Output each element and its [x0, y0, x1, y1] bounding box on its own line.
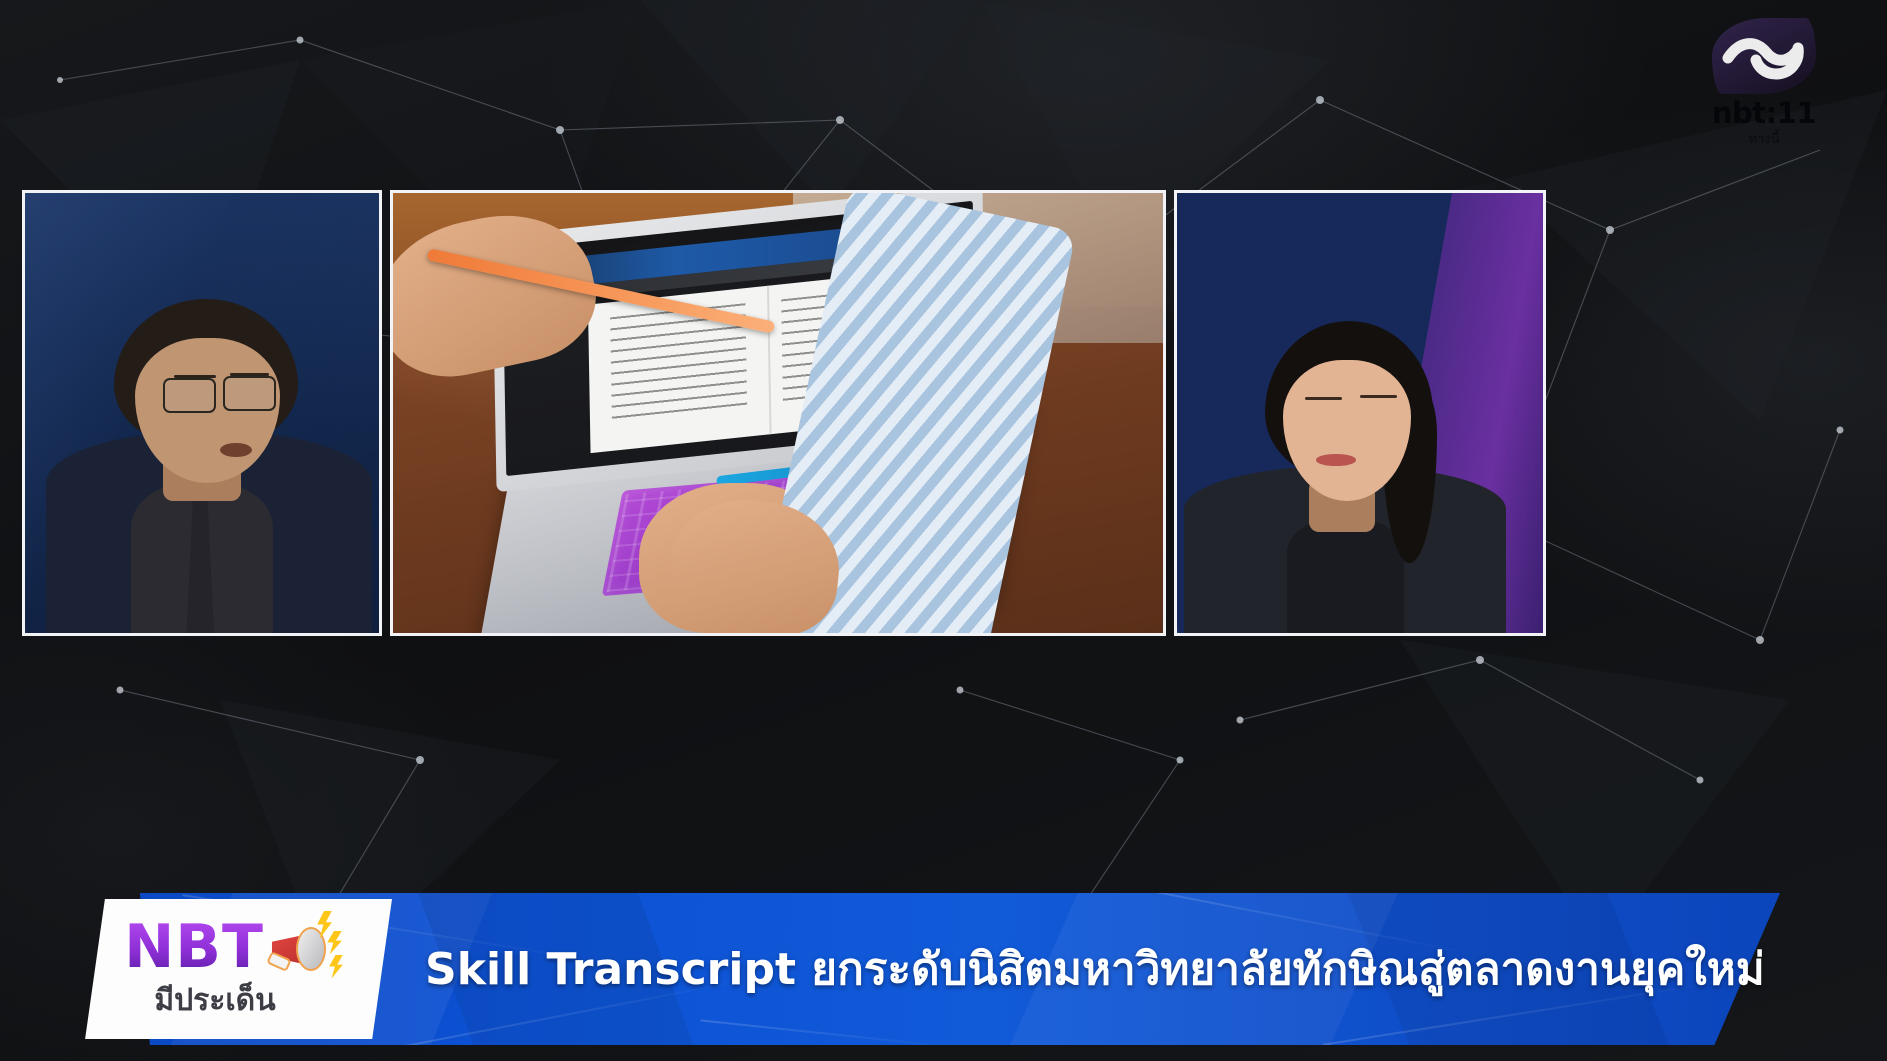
broadcast-screen: nbt:11 ทางนี้ [0, 0, 1887, 1061]
megaphone-icon [266, 915, 340, 981]
program-logo-tagline: มีประเด็น [154, 977, 275, 1024]
channel-logo: nbt:11 ทางนี้ [1689, 18, 1839, 148]
lower-third-banner: NBT มีประเด็น Skill Transcript ยกระดับนิ… [0, 893, 1790, 1051]
program-logo-wordmark: NBT [124, 919, 264, 976]
broll-panel [390, 190, 1166, 636]
guest-figure [25, 193, 379, 633]
headline-text: Skill Transcript ยกระดับนิสิตมหาวิทยาลัย… [425, 893, 1700, 1045]
video-panel-row [22, 190, 1546, 636]
guest-panel [22, 190, 382, 636]
program-logo: NBT มีประเด็น [62, 899, 392, 1039]
host-figure [1177, 193, 1543, 633]
host-panel [1174, 190, 1546, 636]
nbt-eye-logo-icon [1712, 18, 1816, 94]
channel-subtext: ทางนี้ [1689, 128, 1839, 149]
channel-wordmark: nbt:11 [1689, 96, 1839, 130]
